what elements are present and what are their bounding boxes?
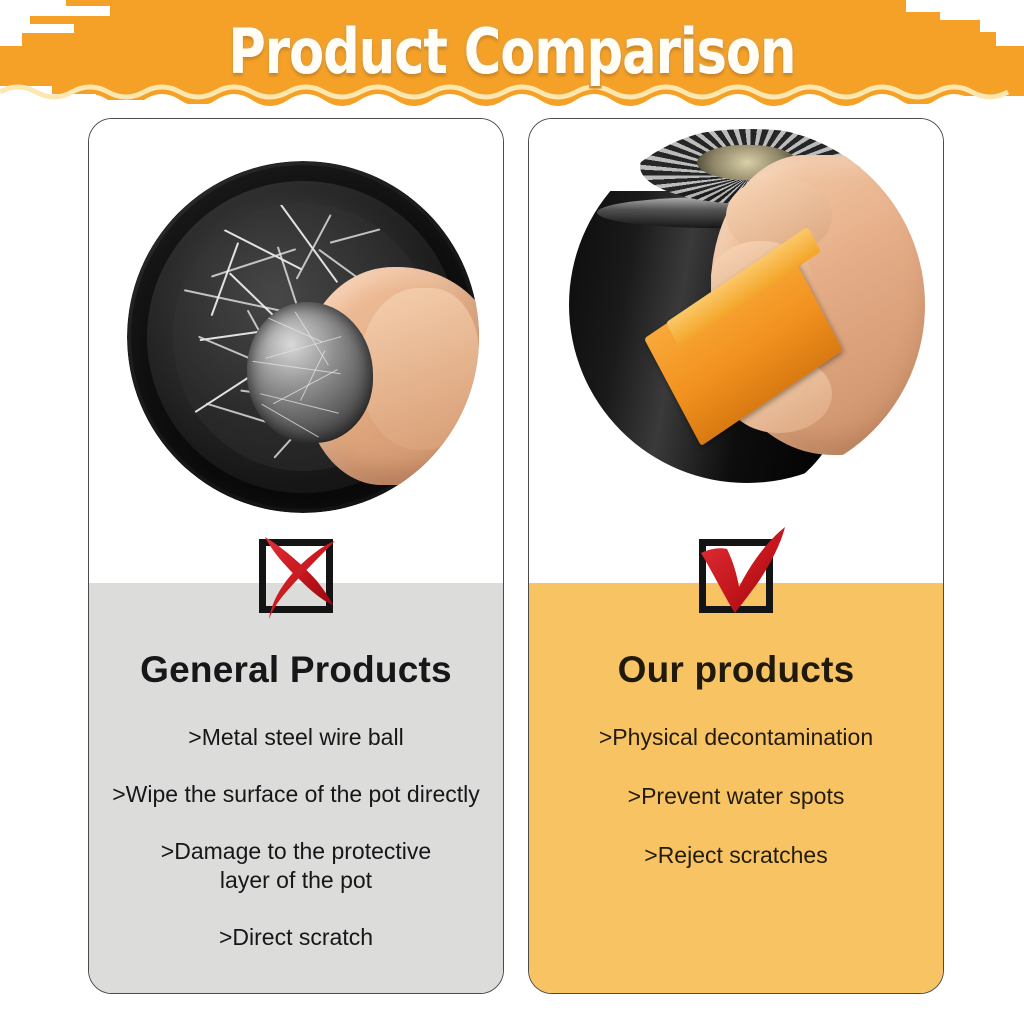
comparison-panel-general-products[interactable]: General Products >Metal steel wire ball … — [88, 118, 504, 994]
feature-line: layer of the pot — [99, 866, 493, 895]
feature-line: >Physical decontamination — [539, 723, 933, 752]
brush-notch — [0, 32, 22, 46]
brush-notch — [40, 6, 110, 16]
list-item: >Physical decontamination — [529, 723, 943, 752]
photo-pot-cleaning — [569, 127, 925, 483]
photo-scratched-pan — [127, 161, 479, 513]
list-item: >Wipe the surface of the pot directly — [89, 780, 503, 809]
panel-title-general-products: General Products — [89, 649, 503, 691]
check-mark-glyph — [689, 527, 785, 619]
list-item: >Metal steel wire ball — [89, 723, 503, 752]
list-item: >Direct scratch — [89, 923, 503, 952]
header-banner: Product Comparison Product Comparison — [0, 0, 1024, 118]
page-title: Product Comparison — [92, 16, 932, 88]
list-item: >Reject scratches — [529, 841, 943, 870]
feature-line: >Wipe the surface of the pot directly — [99, 780, 493, 809]
feature-line: >Damage to the protective — [99, 837, 493, 866]
panel-title-our-products: Our products — [529, 649, 943, 691]
check-mark-icon — [689, 527, 785, 619]
hand-knuckles — [359, 288, 479, 450]
list-item: >Damage to the protective layer of the p… — [89, 837, 503, 895]
list-item: >Prevent water spots — [529, 782, 943, 811]
cross-mark-glyph — [249, 527, 345, 619]
feature-list-our-products: >Physical decontamination >Prevent water… — [529, 723, 943, 900]
feature-line: >Prevent water spots — [539, 782, 933, 811]
feature-list-general-products: >Metal steel wire ball >Wipe the surface… — [89, 723, 503, 980]
feature-line: >Metal steel wire ball — [99, 723, 493, 752]
comparison-panel-our-products[interactable]: Our products >Physical decontamination >… — [528, 118, 944, 994]
feature-line: >Reject scratches — [539, 841, 933, 870]
cross-mark-icon — [249, 527, 345, 619]
feature-line: >Direct scratch — [99, 923, 493, 952]
brush-notch — [996, 30, 1024, 46]
